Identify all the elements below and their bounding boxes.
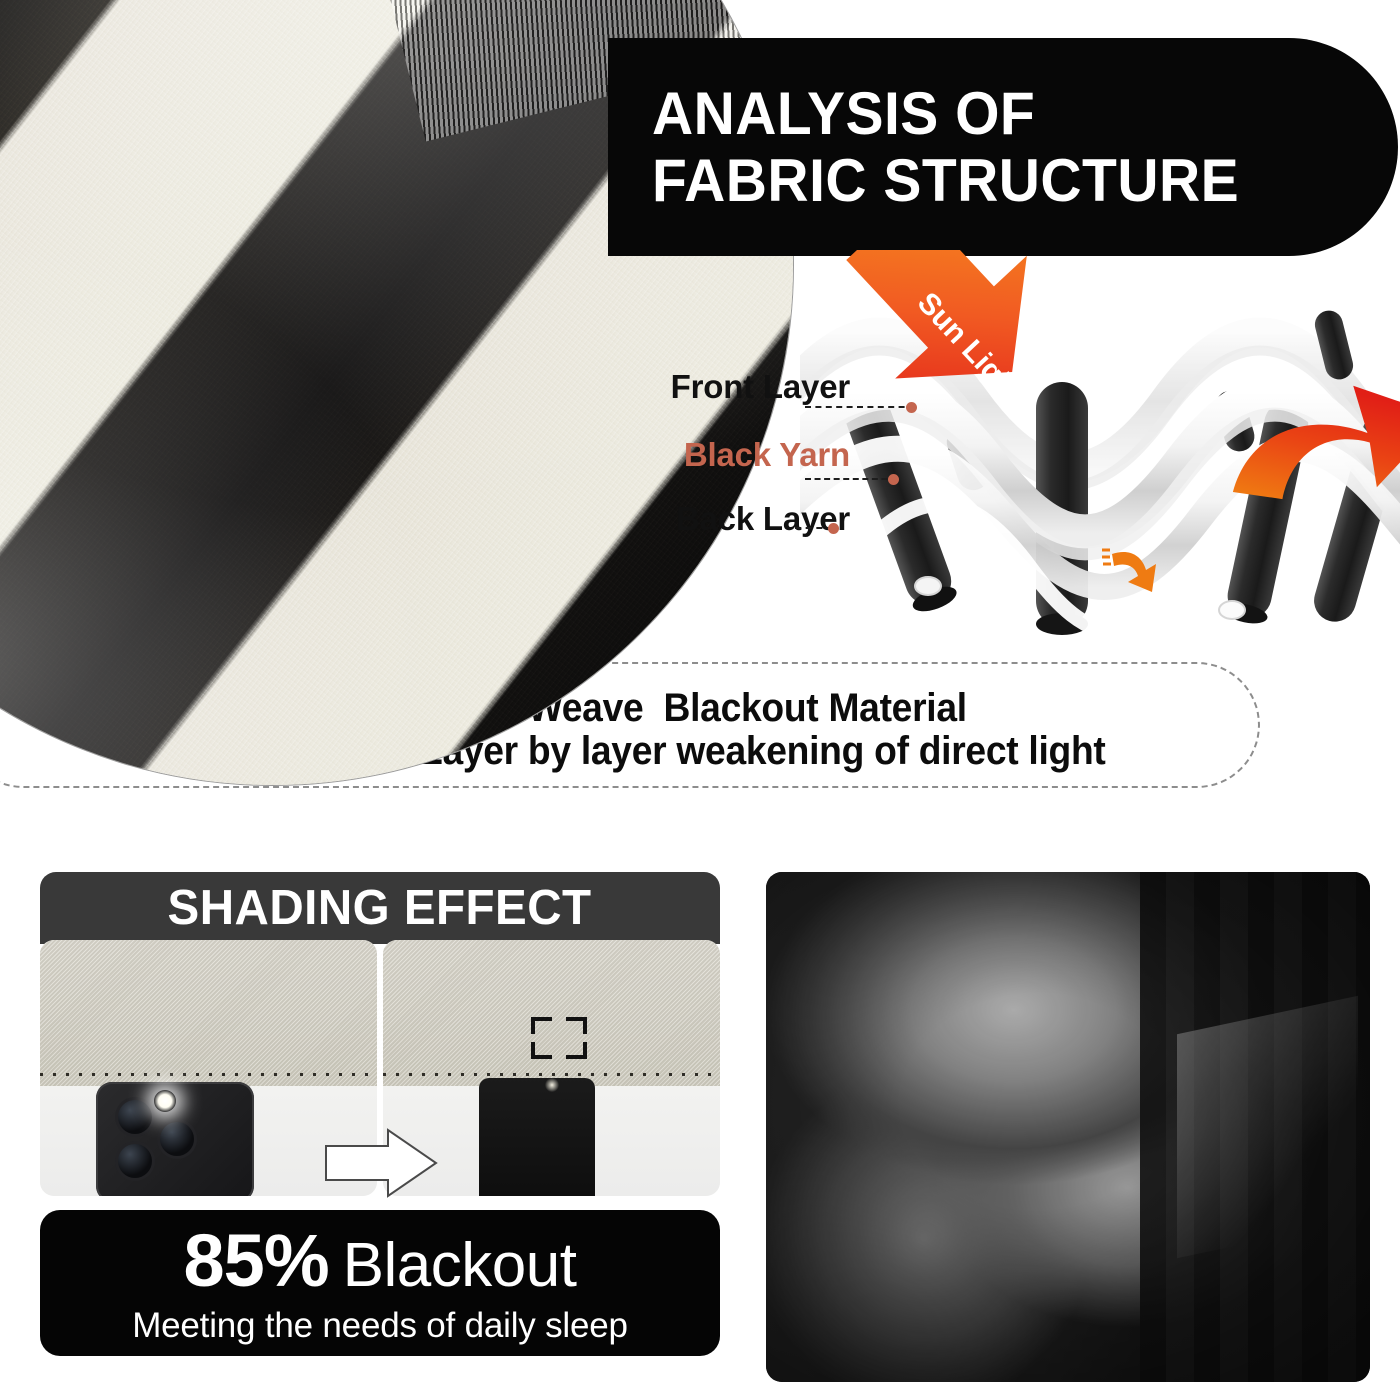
sleep-photo-panel xyxy=(766,872,1370,1382)
flashlight-icon xyxy=(154,1090,176,1112)
curtain-stitch-line xyxy=(40,1073,377,1076)
infographic-canvas: Triple Weave Blackout Material Layer by … xyxy=(0,0,1400,1400)
blackout-subtitle: Meeting the needs of daily sleep xyxy=(132,1308,628,1343)
callout-front-layer: Front Layer xyxy=(671,370,850,403)
shading-effect-header: SHADING EFFECT xyxy=(40,872,720,944)
title-banner: ANALYSIS OF FABRIC STRUCTURE xyxy=(608,38,1398,256)
photo-vignette xyxy=(766,872,1370,1382)
phone-front xyxy=(96,1082,254,1196)
right-arrow-icon xyxy=(322,1126,440,1200)
leader-line-front-layer xyxy=(805,406,915,408)
curtain-fabric xyxy=(383,940,720,1086)
page-title-line-1: ANALYSIS OF xyxy=(652,80,1035,147)
camera-lens-icon xyxy=(160,1122,194,1156)
shading-comparison xyxy=(40,940,720,1196)
leader-line-black-yarn xyxy=(805,478,897,480)
phone-behind-curtain xyxy=(479,1078,595,1196)
shading-effect-title: SHADING EFFECT xyxy=(168,880,592,936)
blackout-percent: 85% xyxy=(184,1224,329,1298)
callout-back-layer: Back Layer xyxy=(676,502,850,535)
callout-black-yarn: Black Yarn xyxy=(684,438,850,471)
shading-effect-section: SHADING EFFECT xyxy=(30,872,730,1382)
leader-line-back-layer xyxy=(795,527,833,529)
page-title-line-2: FABRIC STRUCTURE xyxy=(652,147,1239,214)
curtain-fabric xyxy=(40,940,377,1086)
camera-lens-icon xyxy=(118,1144,152,1178)
curtain-stitch-line xyxy=(383,1073,720,1076)
focus-bracket-icon xyxy=(531,1017,587,1059)
blackout-rate-banner: 85% Blackout Meeting the needs of daily … xyxy=(40,1210,720,1356)
camera-lens-icon xyxy=(118,1100,152,1134)
weave-diagram: Sun Light xyxy=(800,250,1400,670)
blackout-word: Blackout xyxy=(343,1235,577,1297)
fabric-structure-section: Triple Weave Blackout Material Layer by … xyxy=(0,0,1400,830)
dimmed-light-spot xyxy=(545,1078,559,1092)
